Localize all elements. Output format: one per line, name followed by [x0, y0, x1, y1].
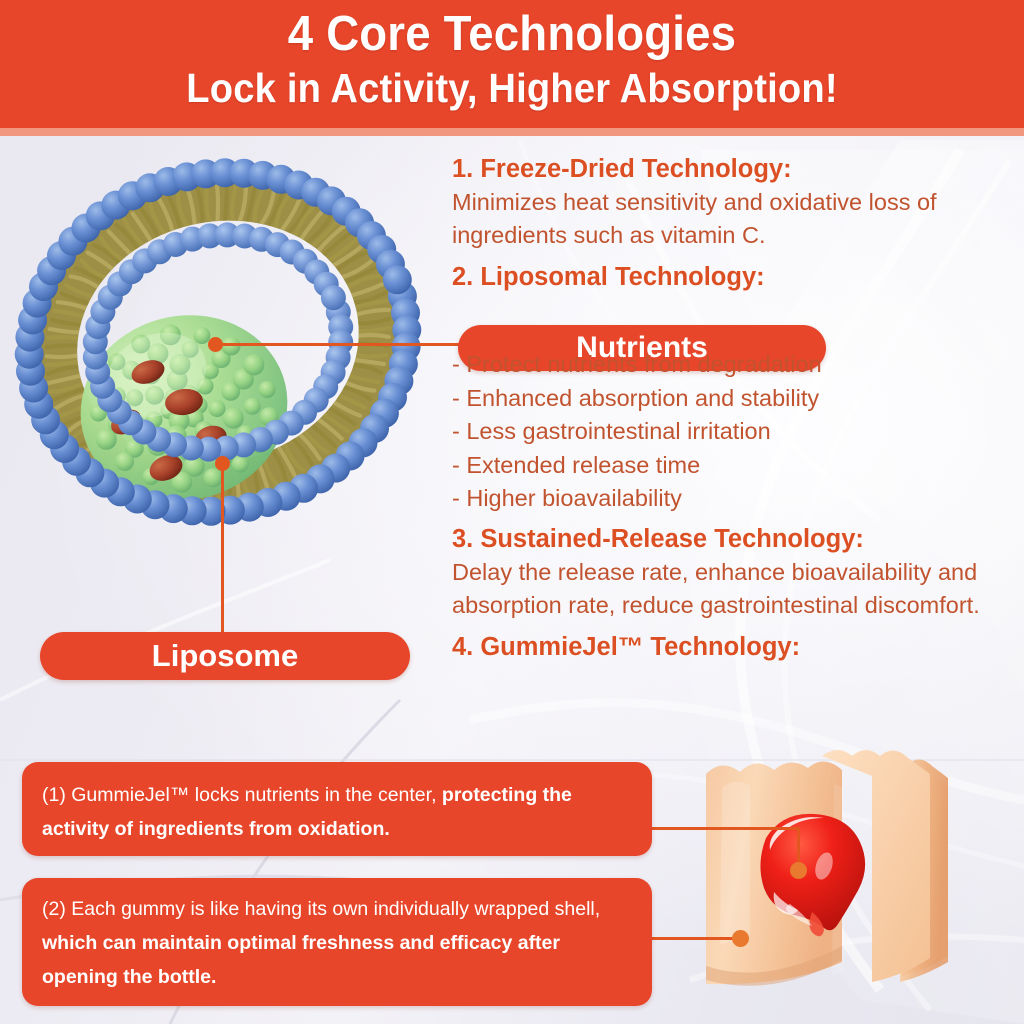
- benefit-item: - Protect nutrients from degradation: [452, 348, 1018, 382]
- liposome-connector-line: [221, 466, 224, 636]
- page-title: 4 Core Technologies: [36, 0, 988, 60]
- liposome-connector-dot: [215, 456, 230, 471]
- nutrients-pill-spacer: [452, 294, 1018, 348]
- tech-3-body-line-1: Delay the release rate, enhance bioavail…: [452, 556, 1018, 589]
- nutrients-connector-line: [216, 343, 462, 346]
- benefit-item: - Enhanced absorption and stability: [452, 382, 1018, 416]
- note-2-text: (2) Each gummy is like having its own in…: [42, 892, 632, 994]
- note-1-connector-line: [652, 827, 800, 830]
- tech-1-body-line-1: Minimizes heat sensitivity and oxidative…: [452, 186, 1018, 219]
- tech-1-body-line-2: ingredients such as vitamin C.: [452, 219, 1018, 252]
- note-2-bold: which can maintain optimal freshness and…: [42, 932, 560, 988]
- tech-3-body-line-2: absorption rate, reduce gastrointestinal…: [452, 589, 1018, 622]
- header-banner: 4 Core Technologies Lock in Activity, Hi…: [0, 0, 1024, 128]
- tech-1-heading: 1. Freeze-Dried Technology:: [452, 152, 1018, 186]
- infographic-root: 4 Core Technologies Lock in Activity, Hi…: [0, 0, 1024, 1024]
- tech-3-heading: 3. Sustained-Release Technology:: [452, 522, 1018, 556]
- gummiejel-note-2: (2) Each gummy is like having its own in…: [22, 878, 652, 1006]
- gummiejel-note-1: (1) GummieJel™ locks nutrients in the ce…: [22, 762, 652, 856]
- liposome-illustration: [6, 150, 446, 570]
- tech-4-heading: 4. GummieJel™ Technology:: [452, 630, 1018, 664]
- page-subtitle: Lock in Activity, Higher Absorption!: [36, 60, 988, 110]
- gummy-illustration: [662, 726, 1024, 1024]
- benefit-item: - Extended release time: [452, 449, 1018, 483]
- note-1-text: (1) GummieJel™ locks nutrients in the ce…: [42, 778, 632, 846]
- note-1-normal: (1) GummieJel™ locks nutrients in the ce…: [42, 784, 442, 806]
- technologies-column: 1. Freeze-Dried Technology: Minimizes he…: [452, 152, 1018, 664]
- header-underline: [0, 128, 1024, 136]
- liposome-label-pill: Liposome: [40, 632, 410, 680]
- note-1-connector-dot: [790, 862, 807, 879]
- liposome-label-text: Liposome: [152, 638, 298, 674]
- liposomal-benefits-list: - Protect nutrients from degradation - E…: [452, 348, 1018, 516]
- note-2-normal: (2) Each gummy is like having its own in…: [42, 898, 600, 920]
- benefit-item: - Less gastrointestinal irritation: [452, 415, 1018, 449]
- nutrients-connector-dot: [208, 337, 223, 352]
- note-2-connector-line: [652, 937, 740, 940]
- benefit-item: - Higher bioavailability: [452, 482, 1018, 516]
- tech-2-heading: 2. Liposomal Technology:: [452, 260, 1018, 294]
- note-2-connector-dot: [732, 930, 749, 947]
